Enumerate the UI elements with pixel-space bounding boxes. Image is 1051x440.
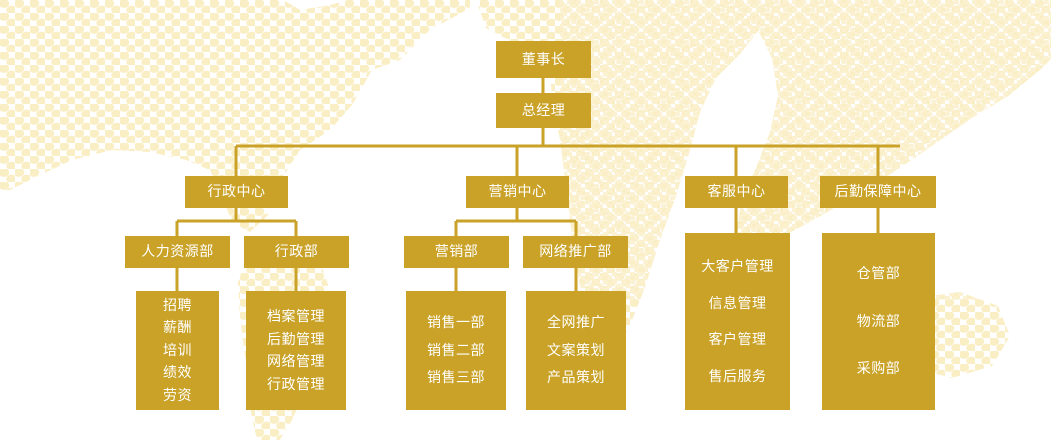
group-box-administration[interactable]: 档案管理 后勤管理 网络管理 行政管理 — [246, 291, 346, 410]
group-item: 后勤管理 — [267, 331, 325, 349]
node-center-customer-service[interactable]: 客服中心 — [685, 176, 788, 208]
group-item: 仓管部 — [857, 265, 901, 283]
node-label: 营销中心 — [489, 183, 547, 201]
group-item: 全网推广 — [547, 314, 605, 332]
group-item: 网络管理 — [267, 353, 325, 371]
group-item: 薪酬 — [163, 319, 192, 337]
group-item: 产品策划 — [547, 369, 605, 387]
node-label: 总经理 — [522, 102, 566, 120]
group-box-customer-service[interactable]: 大客户管理 信息管理 客户管理 售后服务 — [685, 233, 790, 410]
group-box-online-promotion[interactable]: 全网推广 文案策划 产品策划 — [526, 291, 626, 410]
group-item: 招聘 — [163, 297, 192, 315]
node-label: 后勤保障中心 — [835, 183, 922, 201]
node-label: 客服中心 — [708, 183, 766, 201]
org-chart: 董事长 总经理 行政中心 营销中心 客服中心 后勤保障中心 人力资源部 行政部 … — [0, 0, 1051, 440]
group-item: 档案管理 — [267, 308, 325, 326]
group-item: 培训 — [163, 342, 192, 360]
group-item: 销售二部 — [427, 342, 485, 360]
group-box-marketing[interactable]: 销售一部 销售二部 销售三部 — [406, 291, 506, 410]
group-item: 采购部 — [857, 360, 901, 378]
node-department-administration[interactable]: 行政部 — [244, 236, 349, 268]
group-item: 物流部 — [857, 313, 901, 331]
group-item: 绩效 — [163, 364, 192, 382]
node-label: 董事长 — [522, 51, 566, 69]
group-item: 客户管理 — [709, 331, 767, 349]
node-label: 行政中心 — [208, 183, 266, 201]
node-center-marketing[interactable]: 营销中心 — [466, 176, 569, 208]
group-item: 大客户管理 — [701, 258, 774, 276]
group-box-human-resources[interactable]: 招聘 薪酬 培训 绩效 劳资 — [136, 291, 219, 410]
node-center-administration[interactable]: 行政中心 — [185, 176, 288, 208]
node-label: 行政部 — [275, 243, 319, 261]
node-label: 人力资源部 — [141, 243, 214, 261]
group-item: 劳资 — [163, 387, 192, 405]
group-item: 售后服务 — [709, 368, 767, 386]
group-item: 销售三部 — [427, 369, 485, 387]
node-label: 营销部 — [435, 243, 479, 261]
node-center-logistics-support[interactable]: 后勤保障中心 — [820, 176, 936, 208]
node-chairman[interactable]: 董事长 — [496, 41, 591, 78]
node-department-online-promotion[interactable]: 网络推广部 — [523, 236, 628, 268]
group-item: 行政管理 — [267, 376, 325, 394]
group-item: 信息管理 — [709, 295, 767, 313]
node-label: 网络推广部 — [539, 243, 612, 261]
node-department-human-resources[interactable]: 人力资源部 — [125, 236, 230, 268]
group-box-logistics-support[interactable]: 仓管部 物流部 采购部 — [822, 233, 935, 410]
node-department-marketing[interactable]: 营销部 — [404, 236, 509, 268]
group-item: 销售一部 — [427, 314, 485, 332]
node-general-manager[interactable]: 总经理 — [496, 93, 591, 128]
group-item: 文案策划 — [547, 342, 605, 360]
